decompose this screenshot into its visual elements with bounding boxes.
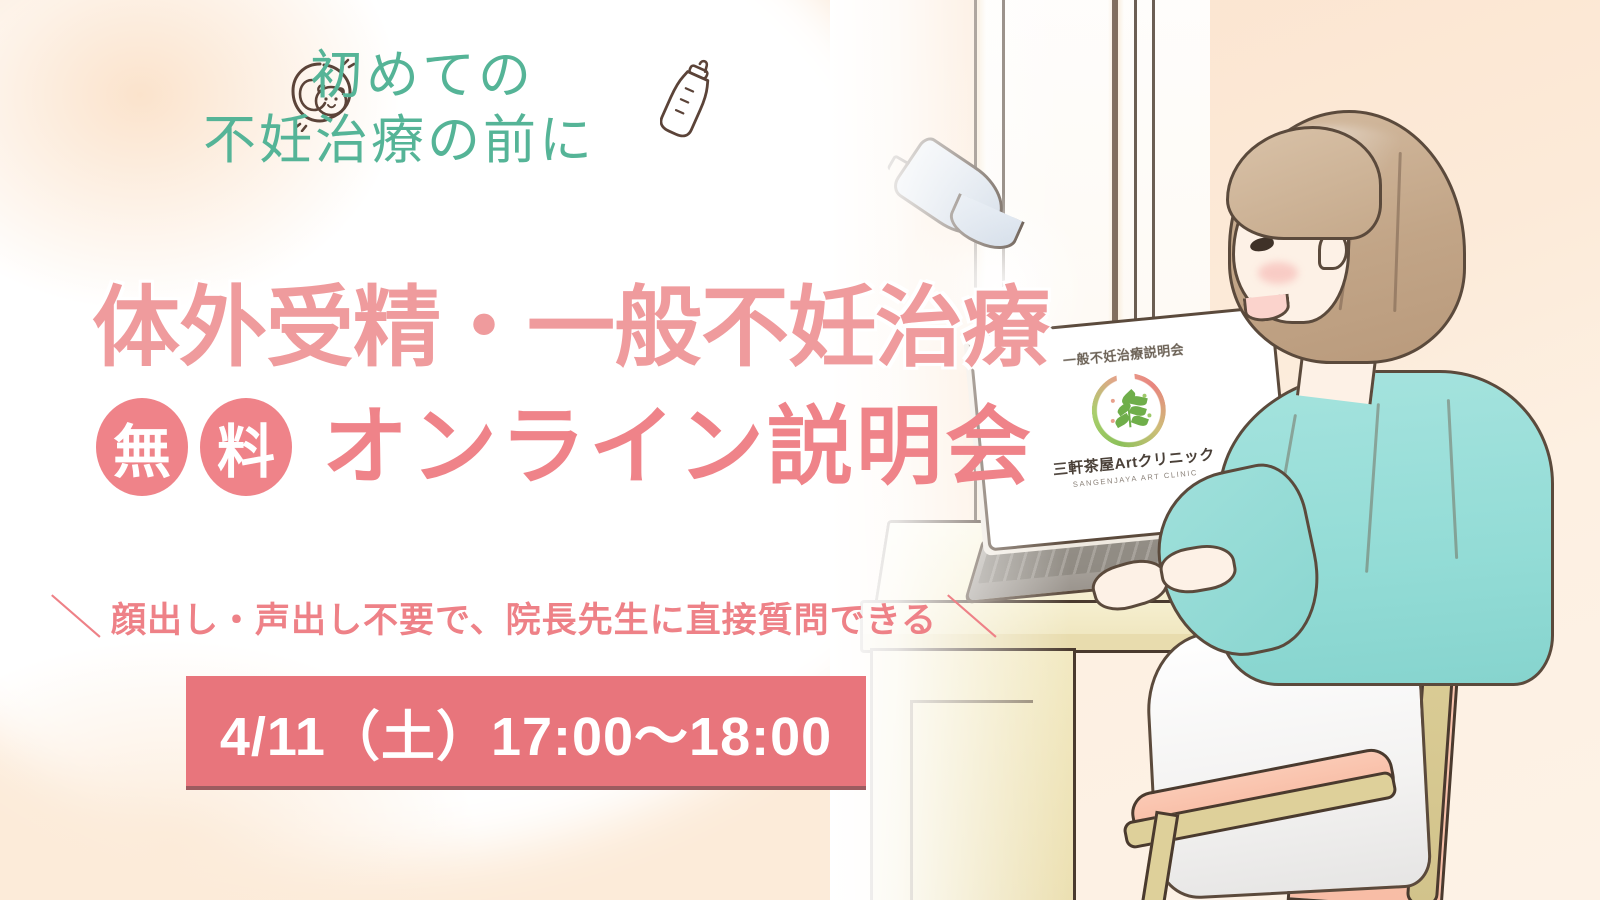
sub-headline-text: 顔出し・声出し不要で、院長先生に直接質問できる [111, 592, 937, 643]
headline-line-1: 体外受精・一般不妊治療 [92, 284, 972, 372]
date-time-bar[interactable]: 4/11（土）17:00〜18:00 [186, 676, 866, 790]
logo-ring-gap [1116, 370, 1135, 386]
slash-right-icon: ／ [945, 591, 998, 644]
sub-headline: ＼ 顔出し・声出し不要で、院長先生に直接質問できる ／ [84, 592, 964, 643]
promo-banner: 一般不妊治療説明会 [0, 0, 1600, 900]
headline-line-2: 無 料 オンライン説明会 [96, 398, 996, 496]
free-badge-mu: 無 [96, 398, 188, 496]
clinic-leaf-logo-icon [1088, 370, 1169, 451]
free-badge-ryo: 料 [200, 398, 292, 496]
woman-blush [1258, 262, 1298, 284]
eyebrow-headline: 初めての 不妊治療の前に [0, 44, 780, 173]
slash-left-icon: ＼ [49, 591, 102, 644]
date-time-text: 4/11（土）17:00〜18:00 [220, 692, 832, 771]
fabric-fold [1365, 403, 1380, 573]
fabric-fold [1447, 399, 1458, 559]
eyebrow-line-2: 不妊治療の前に [0, 109, 780, 174]
online-seminar-text: オンライン説明会 [322, 404, 1034, 490]
eyebrow-line-1: 初めての [0, 44, 780, 109]
content-area: 初めての 不妊治療の前に 体外受精・一般不妊治療 無 料 オンライン説明会 ＼ … [0, 0, 1000, 900]
